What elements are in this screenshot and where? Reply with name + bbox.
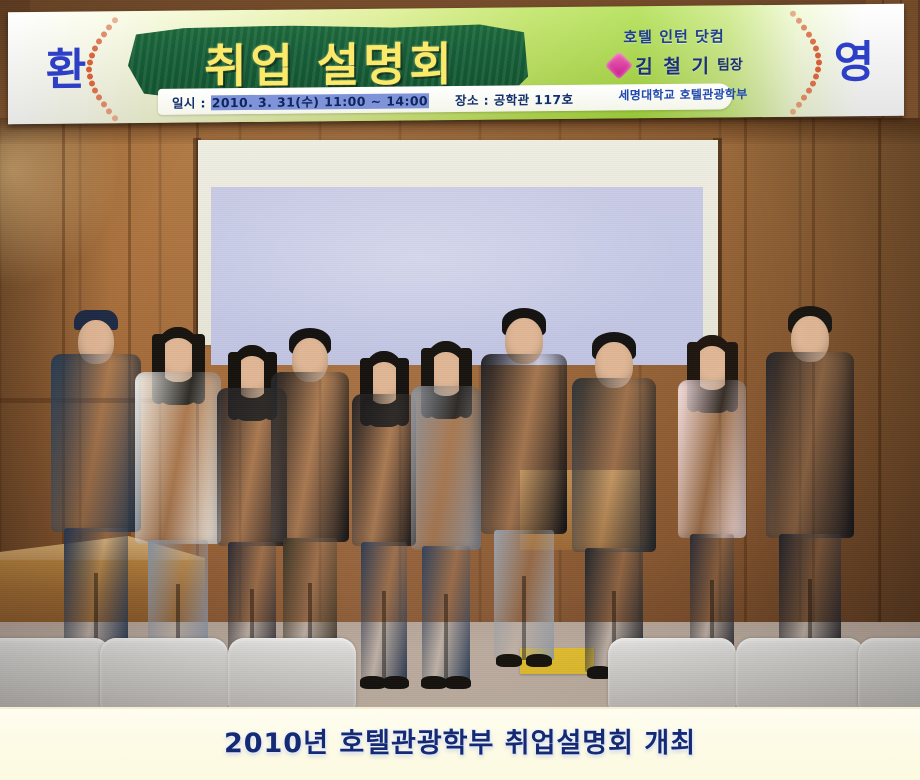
chair xyxy=(228,638,356,707)
person-torso xyxy=(572,378,656,552)
banner-datetime-label: 일시 : xyxy=(172,95,206,110)
banner-place: 장소 : 공학관 117호 xyxy=(455,88,573,108)
person-torso xyxy=(352,394,416,546)
decoration-dot xyxy=(112,115,118,121)
person-shoe xyxy=(421,676,447,689)
banner-place-label: 장소 : xyxy=(455,92,489,107)
person-shoe xyxy=(445,676,471,689)
person-torso xyxy=(678,380,746,538)
banner-datetime-value: 2010. 3. 31(수) 11:00 ~ 14:00 xyxy=(211,93,429,110)
banner-inner: 환 영 취업 설명회 호텔 인턴 닷컴 김 철 기 팀장 일시 : 2010. … xyxy=(8,4,904,125)
person-torso xyxy=(411,386,481,550)
decoration-dot xyxy=(790,109,796,115)
caption-band: 2010년 호텔관광학부 취업설명회 개최 xyxy=(0,707,920,780)
caption-text: 2010년 호텔관광학부 취업설명회 개최 xyxy=(0,721,920,760)
banner-place-value: 공학관 117호 xyxy=(494,91,574,107)
banner-speaker-title: 팀장 xyxy=(717,54,743,74)
leg-gap xyxy=(382,591,386,682)
welcome-char-left: 환 xyxy=(30,29,102,102)
wall-seam xyxy=(878,118,881,628)
welcome-char-right: 영 xyxy=(818,22,890,95)
decoration-dot xyxy=(101,101,107,107)
event-banner: 환 영 취업 설명회 호텔 인턴 닷컴 김 철 기 팀장 일시 : 2010. … xyxy=(8,4,904,125)
banner-department: 세명대학교 호텔관광학부 xyxy=(568,85,798,104)
chair xyxy=(608,638,736,707)
leg-gap xyxy=(444,594,448,682)
person-torso xyxy=(135,372,221,544)
person-shoe xyxy=(496,654,522,667)
banner-speaker-row: 김 철 기 팀장 xyxy=(564,49,788,81)
wall-seam xyxy=(744,118,747,628)
chair xyxy=(858,638,920,707)
caption-top-rule xyxy=(0,707,920,709)
banner-speaker-name: 김 철 기 xyxy=(635,51,711,79)
banner-datetime: 일시 : 2010. 3. 31(수) 11:00 ~ 14:00 xyxy=(172,90,429,111)
chair xyxy=(736,638,864,707)
person-shoe xyxy=(360,676,386,689)
person-torso xyxy=(51,354,141,532)
diamond-icon xyxy=(605,51,633,79)
person-torso xyxy=(271,372,349,542)
chair xyxy=(0,638,110,707)
person-shoe xyxy=(526,654,552,667)
person-shoe xyxy=(383,676,409,689)
photo-page: 환 영 취업 설명회 호텔 인턴 닷컴 김 철 기 팀장 일시 : 2010. … xyxy=(0,0,920,780)
decoration-dot xyxy=(796,102,802,108)
person-torso xyxy=(481,354,567,534)
leg-gap xyxy=(522,576,526,661)
person-torso xyxy=(766,352,854,538)
decoration-dot xyxy=(112,17,118,23)
chair xyxy=(100,638,228,707)
decoration-dot xyxy=(796,18,802,24)
decoration-dot xyxy=(790,11,796,17)
banner-sponsor-name: 호텔 인턴 닷컴 xyxy=(564,25,784,48)
